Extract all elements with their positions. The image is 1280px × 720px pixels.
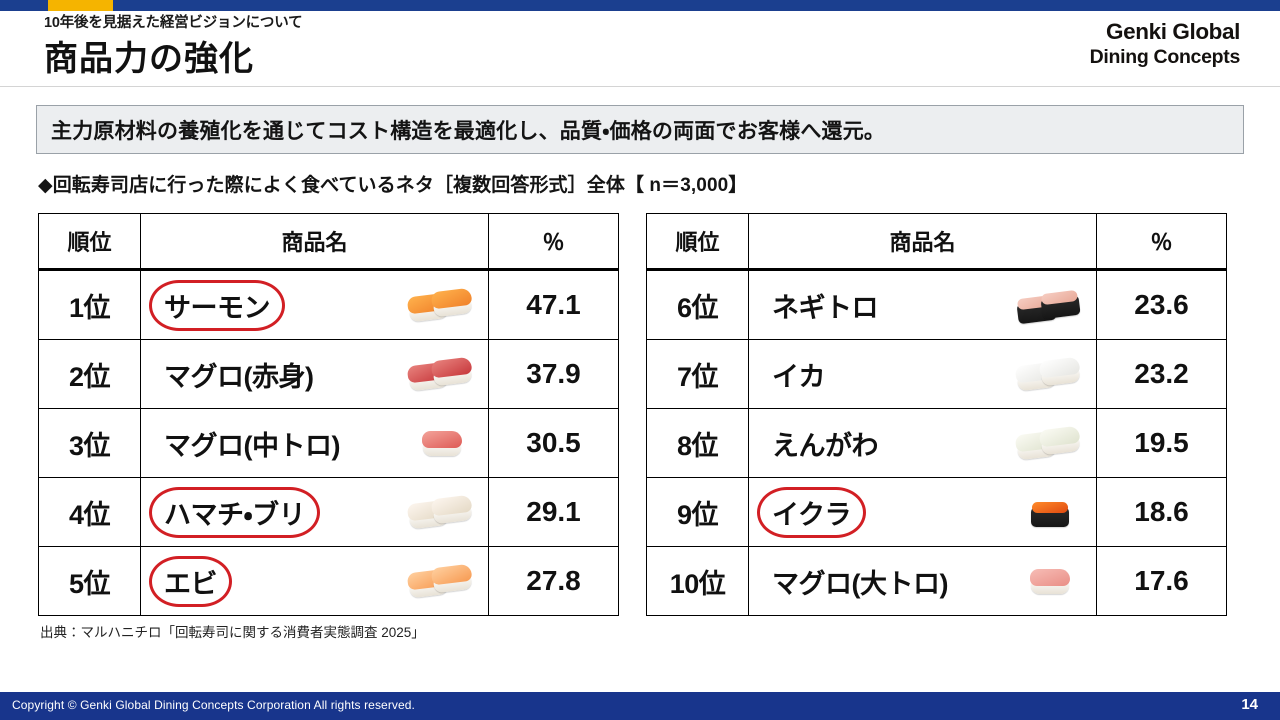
table-header-row: 順位 商品名 ％ [39,214,619,270]
product-name: えんがわ [763,421,887,466]
key-message-text: 主力原材料の養殖化を通じてコスト構造を最適化し、品質・価格の両面でお客様へ還元。 [37,115,885,145]
sushi-neta [1030,569,1070,586]
table-row: 1位サーモン47.1 [39,270,619,340]
sushi-neta [1032,502,1068,513]
table-header-row: 順位 商品名 ％ [647,214,1227,270]
cell-rank: 9位 [647,478,749,547]
product-name: マグロ(大トロ) [763,559,957,604]
sushi-piece [1030,566,1070,596]
cell-product-name: イクラ [749,478,1097,547]
product-name-row: マグロ(大トロ) [749,547,1096,615]
sushi-piece [422,428,462,458]
eyebrow-text: 10年後を見据えた経営ビジョンについて [44,11,302,32]
cell-percentage: 23.2 [1097,340,1227,409]
cell-percentage: 17.6 [1097,547,1227,616]
cell-rank: 3位 [39,409,141,478]
product-name-row: イカ [749,340,1096,408]
cell-product-name: マグロ(大トロ) [749,547,1097,616]
cell-product-name: サーモン [141,270,489,340]
product-name-row: ハマチ・ブリ [141,478,488,546]
cell-product-name: ネギトロ [749,270,1097,340]
ranking-table-left-wrapper: 順位 商品名 ％ 1位サーモン47.12位マグロ(赤身)37.93位マグロ(中ト… [38,213,618,616]
sushi-chutoro-icon [408,421,478,465]
product-name-row: えんがわ [749,409,1096,477]
sushi-piece [1030,497,1070,527]
cell-rank: 8位 [647,409,749,478]
sushi-piece [1038,354,1081,389]
sushi-negitoro-icon [1016,283,1086,327]
sushi-ika-icon [1016,352,1086,396]
ranking-table-right-wrapper: 順位 商品名 ％ 6位ネギトロ23.67位イカ23.28位えんがわ19.59位イ… [646,213,1226,616]
cell-rank: 7位 [647,340,749,409]
column-header-name: 商品名 [141,214,489,270]
ranking-table-left: 順位 商品名 ％ 1位サーモン47.12位マグロ(赤身)37.93位マグロ(中ト… [38,213,619,616]
table-row: 3位マグロ(中トロ)30.5 [39,409,619,478]
product-name-row: マグロ(赤身) [141,340,488,408]
sushi-akami-icon [408,352,478,396]
product-name-row: サーモン [141,271,488,339]
sushi-salmon-icon [408,283,478,327]
column-header-rank: 順位 [647,214,749,270]
table-row: 8位えんがわ19.5 [647,409,1227,478]
footer-bar: Copyright © Genki Global Dining Concepts… [0,692,1280,720]
column-header-pct: ％ [489,214,619,270]
cell-rank: 6位 [647,270,749,340]
sushi-piece [1038,423,1081,458]
table-row: 9位イクラ18.6 [647,478,1227,547]
table-row: 10位マグロ(大トロ)17.6 [647,547,1227,616]
cell-product-name: イカ [749,340,1097,409]
brand-logo-line1: Genki Global [1090,19,1240,46]
sushi-piece [1038,285,1081,320]
product-name-highlighted: ハマチ・ブリ [155,490,314,535]
key-message-banner: 主力原材料の養殖化を通じてコスト構造を最適化し、品質・価格の両面でお客様へ還元。 [36,105,1244,154]
cell-percentage: 30.5 [489,409,619,478]
sushi-ebi-icon [408,559,478,603]
cell-percentage: 27.8 [489,547,619,616]
source-note: 出典：マルハニチロ「回転寿司に関する消費者実態調査 2025」 [40,621,425,641]
table-row: 4位ハマチ・ブリ29.1 [39,478,619,547]
sushi-neta [422,431,462,448]
cell-rank: 10位 [647,547,749,616]
sushi-engawa-icon [1016,421,1086,465]
cell-percentage: 37.9 [489,340,619,409]
column-header-name: 商品名 [749,214,1097,270]
cell-percentage: 23.6 [1097,270,1227,340]
cell-product-name: ハマチ・ブリ [141,478,489,547]
product-name: マグロ(中トロ) [155,421,349,466]
footer-copyright: Copyright © Genki Global Dining Concepts… [12,698,415,712]
cell-percentage: 47.1 [489,270,619,340]
survey-question-text: ◆回転寿司店に行った際によく食べているネタ［複数回答形式］全体【 n＝3,000… [38,170,747,197]
cell-percentage: 29.1 [489,478,619,547]
top-accent-highlight [48,0,113,11]
sushi-piece [430,354,473,389]
sushi-piece [430,561,473,596]
product-name-highlighted: エビ [155,559,226,604]
cell-rank: 4位 [39,478,141,547]
product-name: イカ [763,352,834,397]
column-header-pct: ％ [1097,214,1227,270]
product-name-highlighted: イクラ [763,490,860,535]
product-name-row: エビ [141,547,488,615]
cell-product-name: マグロ(中トロ) [141,409,489,478]
product-name-row: マグロ(中トロ) [141,409,488,477]
ranking-table-right-body: 6位ネギトロ23.67位イカ23.28位えんがわ19.59位イクラ18.610位… [647,270,1227,616]
sushi-piece [430,285,473,320]
cell-rank: 1位 [39,270,141,340]
sushi-otoro-icon [1016,559,1086,603]
brand-logo-line2: Dining Concepts [1090,46,1240,69]
column-header-rank: 順位 [39,214,141,270]
product-name-row: イクラ [749,478,1096,546]
cell-product-name: エビ [141,547,489,616]
header-divider [0,86,1280,87]
ranking-table-right: 順位 商品名 ％ 6位ネギトロ23.67位イカ23.28位えんがわ19.59位イ… [646,213,1227,616]
cell-product-name: マグロ(赤身) [141,340,489,409]
product-name-highlighted: サーモン [155,283,279,328]
top-accent-bar [0,0,1280,11]
product-name-row: ネギトロ [749,271,1096,339]
footer-page-number: 14 [1241,696,1258,713]
product-name: マグロ(赤身) [155,352,322,397]
cell-product-name: えんがわ [749,409,1097,478]
sushi-hamachi-icon [408,490,478,534]
ranking-table-left-body: 1位サーモン47.12位マグロ(赤身)37.93位マグロ(中トロ)30.54位ハ… [39,270,619,616]
table-row: 5位エビ27.8 [39,547,619,616]
cell-rank: 5位 [39,547,141,616]
page-title: 商品力の強化 [44,31,254,80]
cell-rank: 2位 [39,340,141,409]
table-row: 7位イカ23.2 [647,340,1227,409]
brand-logo: Genki Global Dining Concepts [1090,19,1240,69]
table-row: 6位ネギトロ23.6 [647,270,1227,340]
product-name: ネギトロ [763,283,887,328]
table-row: 2位マグロ(赤身)37.9 [39,340,619,409]
sushi-piece [430,492,473,527]
cell-percentage: 18.6 [1097,478,1227,547]
cell-percentage: 19.5 [1097,409,1227,478]
slide-root: 10年後を見据えた経営ビジョンについて 商品力の強化 Genki Global … [0,0,1280,720]
sushi-ikura-icon [1016,490,1086,534]
